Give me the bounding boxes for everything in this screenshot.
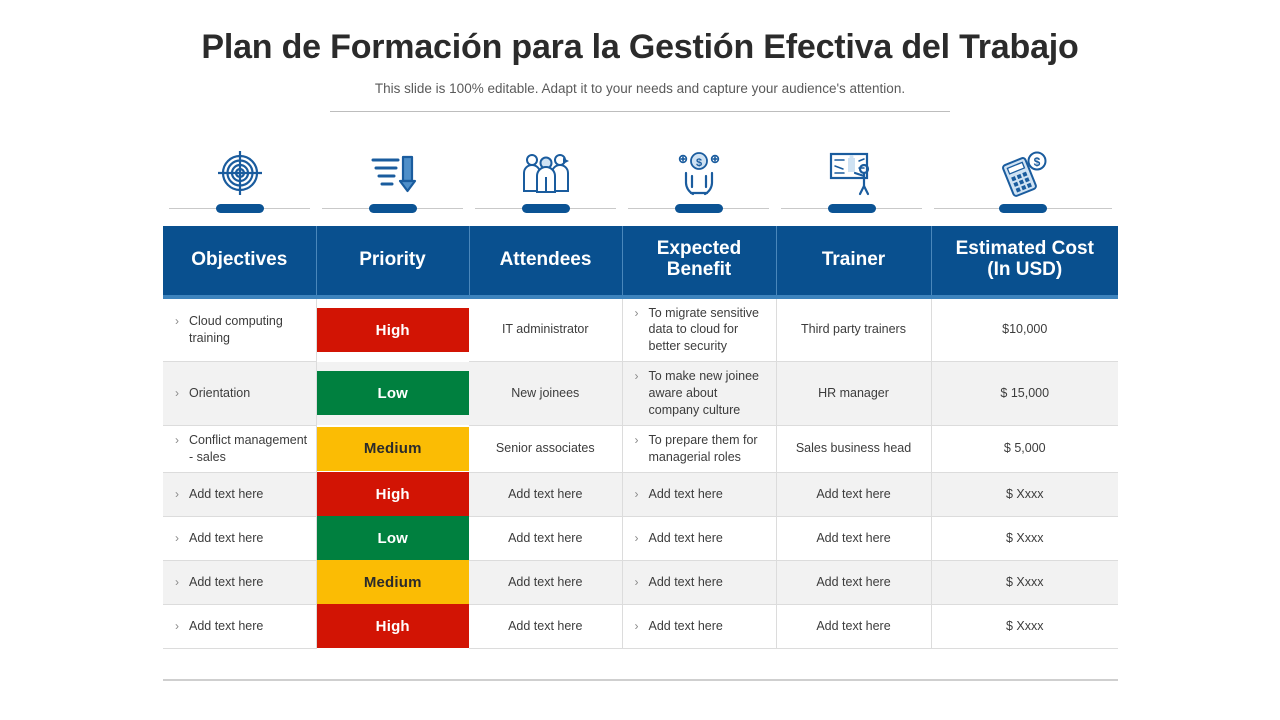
column-header-priority[interactable]: Priority <box>316 226 469 297</box>
cell-attendees[interactable]: New joinees <box>469 362 622 426</box>
cost-text: $ Xxxx <box>940 574 1111 591</box>
table-row[interactable]: ›Add text hereMediumAdd text here›Add te… <box>163 560 1118 604</box>
bullet-chevron-icon: › <box>175 574 179 590</box>
cell-attendees[interactable]: IT administrator <box>469 297 622 362</box>
cell-trainer[interactable]: Third party trainers <box>776 297 931 362</box>
priority-badge: Medium <box>317 427 470 471</box>
bullet-chevron-icon: › <box>635 486 639 502</box>
icon-cell-objectives <box>163 143 316 215</box>
cost-text: $ Xxxx <box>940 530 1111 547</box>
cell-benefit[interactable]: ›To make new joinee aware about company … <box>622 362 776 426</box>
trainer-text: Third party trainers <box>785 321 923 338</box>
trainer-text: Add text here <box>785 574 923 591</box>
objective-text: Add text here <box>189 486 263 503</box>
bullet-chevron-icon: › <box>635 618 639 634</box>
bullet-chevron-icon: › <box>175 385 179 401</box>
bullet-chevron-icon: › <box>635 530 639 546</box>
table-row[interactable]: ›Cloud computing trainingHighIT administ… <box>163 297 1118 362</box>
bullet-chevron-icon: › <box>635 574 639 590</box>
bullet-chevron-icon: › <box>635 305 639 321</box>
objective-text: Conflict management - sales <box>189 432 308 466</box>
objective-text: Cloud computing training <box>189 313 308 347</box>
table-bottom-rule <box>163 679 1118 681</box>
cell-objective[interactable]: ›Add text here <box>163 604 316 648</box>
icon-cell-attendees <box>469 143 622 215</box>
bullet-chevron-icon: › <box>175 530 179 546</box>
attendees-text: IT administrator <box>477 321 614 338</box>
cell-trainer[interactable]: Add text here <box>776 560 931 604</box>
icon-underline <box>775 203 928 215</box>
calculator-dollar-icon: $ <box>997 145 1049 201</box>
attendees-text: Add text here <box>477 486 614 503</box>
priority-badge: Low <box>317 371 470 415</box>
trainer-text: Add text here <box>785 618 923 635</box>
attendees-text: Add text here <box>477 530 614 547</box>
cell-benefit[interactable]: ›To prepare them for managerial roles <box>622 425 776 472</box>
cell-priority[interactable]: Medium <box>316 425 469 472</box>
cost-text: $ 15,000 <box>940 385 1111 402</box>
trainer-text: Sales business head <box>785 440 923 457</box>
cost-text: $ 5,000 <box>940 440 1111 457</box>
priority-badge: High <box>317 604 470 648</box>
table-row[interactable]: ›Add text hereLowAdd text here›Add text … <box>163 516 1118 560</box>
column-header-expected-benefit[interactable]: Expected Benefit <box>622 226 776 297</box>
cell-attendees[interactable]: Add text here <box>469 472 622 516</box>
cell-trainer[interactable]: Sales business head <box>776 425 931 472</box>
cell-objective[interactable]: ›Add text here <box>163 560 316 604</box>
cell-priority[interactable]: Low <box>316 516 469 560</box>
page-subtitle: This slide is 100% editable. Adapt it to… <box>0 81 1280 96</box>
benefit-text: To migrate sensitive data to cloud for b… <box>649 305 768 356</box>
cell-attendees[interactable]: Senior associates <box>469 425 622 472</box>
cell-benefit[interactable]: ›Add text here <box>622 472 776 516</box>
cell-trainer[interactable]: Add text here <box>776 604 931 648</box>
svg-text:$: $ <box>695 157 701 169</box>
cell-priority[interactable]: Low <box>316 362 469 426</box>
bullet-chevron-icon: › <box>175 313 179 329</box>
cell-priority[interactable]: Medium <box>316 560 469 604</box>
priority-badge: High <box>317 308 470 352</box>
cell-benefit[interactable]: ›Add text here <box>622 560 776 604</box>
hands-money-icon: $ <box>673 145 725 201</box>
bullet-chevron-icon: › <box>175 432 179 448</box>
icon-cell-expected-benefit: $ <box>622 143 775 215</box>
attendees-text: Senior associates <box>477 440 614 457</box>
sort-descending-icon <box>367 145 419 201</box>
attendees-text: New joinees <box>477 385 614 402</box>
icon-cell-estimated-cost: $ <box>928 143 1118 215</box>
benefit-text: To prepare them for managerial roles <box>649 432 768 466</box>
cell-objective[interactable]: ›Add text here <box>163 516 316 560</box>
slide-header: Plan de Formación para la Gestión Efecti… <box>0 0 1280 112</box>
svg-text:$: $ <box>1034 155 1041 169</box>
people-group-icon <box>520 145 572 201</box>
trainer-text: Add text here <box>785 530 923 547</box>
cell-cost[interactable]: $ Xxxx <box>931 604 1118 648</box>
bullet-chevron-icon: › <box>175 618 179 634</box>
column-header-objectives[interactable]: Objectives <box>163 226 316 297</box>
cell-objective[interactable]: ›Add text here <box>163 472 316 516</box>
cell-attendees[interactable]: Add text here <box>469 560 622 604</box>
benefit-text: Add text here <box>649 618 723 635</box>
cell-attendees[interactable]: Add text here <box>469 604 622 648</box>
table-row[interactable]: ›Conflict management - salesMediumSenior… <box>163 425 1118 472</box>
column-header-trainer[interactable]: Trainer <box>776 226 931 297</box>
cell-cost[interactable]: $ Xxxx <box>931 472 1118 516</box>
cell-cost[interactable]: $10,000 <box>931 297 1118 362</box>
objective-text: Orientation <box>189 385 250 402</box>
trainer-board-icon <box>826 145 878 201</box>
icon-underline <box>469 203 622 215</box>
table-row[interactable]: ›Add text hereHighAdd text here›Add text… <box>163 472 1118 516</box>
priority-badge: High <box>317 472 470 516</box>
training-plan-table: Objectives Priority Attendees Expected B… <box>163 226 1118 649</box>
cell-priority[interactable]: High <box>316 297 469 362</box>
icon-cell-priority <box>316 143 469 215</box>
icon-underline <box>622 203 775 215</box>
benefit-text: Add text here <box>649 530 723 547</box>
cell-objective[interactable]: ›Orientation <box>163 362 316 426</box>
cell-cost[interactable]: $ 5,000 <box>931 425 1118 472</box>
cell-trainer[interactable]: HR manager <box>776 362 931 426</box>
attendees-text: Add text here <box>477 574 614 591</box>
cost-text: $ Xxxx <box>940 618 1111 635</box>
cell-priority[interactable]: High <box>316 604 469 648</box>
cost-text: $ Xxxx <box>940 486 1111 503</box>
benefit-text: To make new joinee aware about company c… <box>649 368 768 419</box>
cell-benefit[interactable]: ›Add text here <box>622 516 776 560</box>
column-header-attendees[interactable]: Attendees <box>469 226 622 297</box>
benefit-text: Add text here <box>649 486 723 503</box>
cell-cost[interactable]: $ Xxxx <box>931 516 1118 560</box>
icon-underline <box>316 203 469 215</box>
target-icon <box>214 145 266 201</box>
icon-underline <box>928 203 1118 215</box>
cell-attendees[interactable]: Add text here <box>469 516 622 560</box>
table-header-row: Objectives Priority Attendees Expected B… <box>163 226 1118 297</box>
objective-text: Add text here <box>189 574 263 591</box>
title-divider <box>330 111 950 112</box>
icon-strip: $ <box>163 143 1118 215</box>
table-row[interactable]: ›Add text hereHighAdd text here›Add text… <box>163 604 1118 648</box>
cell-trainer[interactable]: Add text here <box>776 472 931 516</box>
priority-badge: Medium <box>317 560 470 604</box>
cell-benefit[interactable]: ›Add text here <box>622 604 776 648</box>
objective-text: Add text here <box>189 618 263 635</box>
icon-cell-trainer <box>775 143 928 215</box>
attendees-text: Add text here <box>477 618 614 635</box>
table-row[interactable]: ›OrientationLowNew joinees›To make new j… <box>163 362 1118 426</box>
cell-cost[interactable]: $ 15,000 <box>931 362 1118 426</box>
bullet-chevron-icon: › <box>635 368 639 384</box>
trainer-text: HR manager <box>785 385 923 402</box>
cell-benefit[interactable]: ›To migrate sensitive data to cloud for … <box>622 297 776 362</box>
cost-text: $10,000 <box>940 321 1111 338</box>
objective-text: Add text here <box>189 530 263 547</box>
priority-badge: Low <box>317 516 470 560</box>
column-header-estimated-cost[interactable]: Estimated Cost (In USD) <box>931 226 1118 297</box>
trainer-text: Add text here <box>785 486 923 503</box>
icon-underline <box>163 203 316 215</box>
cell-objective[interactable]: ›Conflict management - sales <box>163 425 316 472</box>
cell-cost[interactable]: $ Xxxx <box>931 560 1118 604</box>
cell-priority[interactable]: High <box>316 472 469 516</box>
bullet-chevron-icon: › <box>175 486 179 502</box>
cell-objective[interactable]: ›Cloud computing training <box>163 297 316 362</box>
bullet-chevron-icon: › <box>635 432 639 448</box>
benefit-text: Add text here <box>649 574 723 591</box>
page-title: Plan de Formación para la Gestión Efecti… <box>110 28 1170 67</box>
cell-trainer[interactable]: Add text here <box>776 516 931 560</box>
